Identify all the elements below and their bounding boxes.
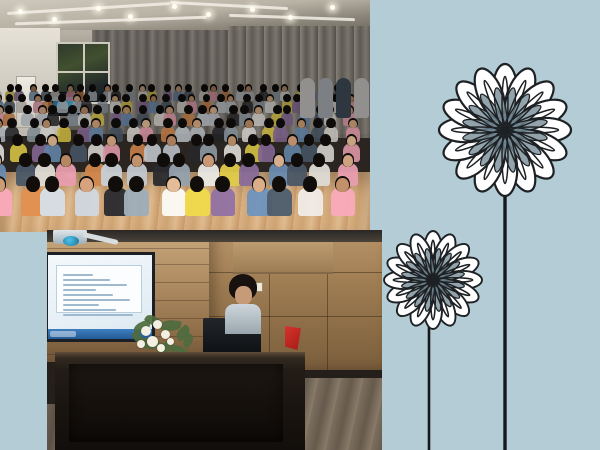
small-daisy-ray [403,278,435,310]
audience-member-head [284,107,290,114]
large-daisy-ray [502,128,528,180]
audience-member-head [211,86,216,92]
audience-member-head [46,178,59,192]
audience-member-head [261,86,266,92]
audience-member-head [140,96,146,102]
large-daisy-petal [439,93,497,136]
audience-member-head [130,178,143,192]
small-daisy-inner-petal [432,276,465,290]
audience-member-head [179,96,185,102]
bouquet-bloom [153,320,162,329]
wall-panel [233,238,333,274]
screen-text-line [63,304,99,306]
audience-member-head [166,107,172,114]
audience-member [67,112,79,126]
audience-member-head [249,136,258,146]
presenter [223,274,263,332]
audience-member-head [20,155,30,167]
screen-text-line [63,309,116,311]
large-daisy-inner-petal [492,128,510,173]
audience-member-head [192,136,201,146]
small-daisy-inner-petal [401,270,434,284]
large-daisy-petal [506,75,561,130]
large-daisy-petal [493,143,517,196]
audience-member-head [215,120,222,128]
stage-floor-right [296,378,382,450]
audience-member-head [94,107,100,114]
audience-member-head [163,96,169,102]
audience-member-head [284,96,290,102]
small-daisy-petal [392,239,433,280]
wall-panel-seam [327,272,328,370]
standing-attendee [318,78,333,118]
audience-member-head [292,155,302,167]
audience-member-head [109,178,122,192]
auditorium-audience-photo [0,0,370,232]
audience-member-head [27,178,40,192]
audience-member-head [31,120,38,128]
audience-member-head [158,155,168,167]
large-daisy-petal [468,64,511,122]
large-daisy-inner-petal [502,102,544,134]
presenter-body [225,304,261,334]
large-daisy-ray [502,129,508,183]
small-daisy-ray [431,280,435,320]
bouquet-bloom [167,338,174,345]
bouquet-bloom [157,344,165,352]
audience-member-head [8,120,15,128]
small-daisy-inner-petal [429,248,443,281]
audience-member-head [336,178,349,192]
large-daisy-petal [499,64,542,122]
audience-member-head [218,96,224,102]
audience-member-head [349,120,356,128]
audience-member-head [176,86,181,92]
small-daisy-ray [416,242,435,281]
large-daisy-inner-petal [502,126,544,158]
audience-member-head [60,120,67,128]
audience-member-head [186,86,191,92]
screen-text-line [63,299,130,301]
small-daisy-inner-petal [429,279,443,312]
audience-member [57,126,71,142]
audience-member-head [123,96,129,102]
large-daisy-ray [504,127,558,133]
audience-member [252,112,264,126]
large-daisy-inner-petal [467,126,509,158]
audience-member-head [203,155,213,167]
small-daisy-ray [431,250,463,282]
small-daisy-petal [424,290,442,329]
large-daisy-petal [450,131,505,186]
large-daisy-inner-petal [492,87,510,132]
audience-member-head [228,136,237,146]
large-daisy-inner-petal [503,125,548,143]
audience-member-head [24,107,30,114]
audience-member-head [347,136,356,146]
audience-member-head [227,120,234,128]
audience-member-head [167,178,180,192]
audience-member-head [244,96,250,102]
small-daisy-ray [432,263,471,282]
small-daisy-ray [433,278,473,282]
audience-member-head [90,86,95,92]
audience-member-head [202,86,207,92]
audience-crowd [0,0,370,232]
large-daisy-ray [452,127,506,133]
audience-member-head [19,96,25,102]
audience-member-head [13,136,22,146]
small-daisy-petal [406,286,438,329]
large-daisy-ray [465,90,507,132]
large-daisy-ray [502,90,544,132]
audience-member-head [273,86,278,92]
small-daisy-inner-petal [401,276,434,290]
audience-member-head [74,96,80,102]
large-daisy-petal [493,64,517,117]
large-daisy-ray [482,79,508,131]
audience-member-head [298,120,305,128]
large-daisy-inner-petal [501,127,533,169]
audience-member-head [90,155,100,167]
collage-canvas [0,0,600,450]
large-daisy-petal [450,75,505,130]
audience-member-head [106,155,116,167]
audience-member-head [78,86,83,92]
audience-member-head [199,107,205,114]
audience-member [0,143,4,162]
audience-member-head [134,136,143,146]
small-daisy-inner-petal [423,279,437,312]
small-daisy-ray [432,278,471,297]
audience-member-head [45,96,51,102]
small-daisy-ray [431,279,450,318]
audience-member-head [253,178,266,192]
large-daisy-inner-petal [500,128,518,173]
audience-member-head [223,86,228,92]
small-daisy-center [431,278,435,282]
small-daisy-inner-petal [412,278,436,309]
audience-member-head [265,120,272,128]
audience-member-head [140,107,146,114]
small-daisy-inner-petal [431,259,462,283]
small-daisy-inner-petal [404,277,435,301]
bouquet-bloom [137,340,145,348]
audience-member-head [327,120,334,128]
small-daisy-ray [416,279,435,318]
audience-member-head [142,120,149,128]
small-daisy-petal [434,239,475,280]
audience-member-head [245,120,252,128]
presenter-face [235,286,252,305]
small-daisy-graphic [384,231,482,450]
screen-text-line [63,284,127,286]
large-daisy-ray [502,77,508,131]
large-daisy-inner-petal [477,127,509,169]
large-daisy-petal [439,118,492,142]
small-daisy-ray [395,278,434,297]
small-daisy-petal [439,253,482,285]
standing-attendee [354,78,369,118]
audience-member-head [39,107,45,114]
small-daisy-petal [424,231,442,270]
audience-member-head [288,136,297,146]
small-daisy-petal [406,231,438,274]
screen-text-line [63,289,96,291]
large-daisy-petal [468,138,511,196]
podium-desk [55,352,305,450]
small-daisy-petal [384,275,427,307]
audience-member [273,126,287,142]
standing-attendee [300,78,315,118]
large-daisy-inner-petal [477,92,509,134]
speaker-podium-photo [47,230,382,450]
desk-top-edge [55,352,305,359]
audience-member-head [113,86,118,92]
audience-member-head [343,155,353,167]
audience-member-head [174,155,184,167]
small-daisy-petal [392,281,433,322]
small-daisy-inner-petal [431,277,462,301]
small-daisy-inner-petal [423,248,437,281]
audience-member [0,188,12,216]
audience-member-head [43,86,48,92]
small-daisy-petal [384,271,423,289]
audience-member-head [191,178,204,192]
audience-member-head [107,136,116,146]
large-daisy-ray [502,79,528,131]
audience-member-head [149,86,154,92]
screen-text-line [63,274,93,276]
large-daisy-inner-petal [467,102,509,134]
screen-text-line [63,279,110,281]
audience-member-head [48,136,57,146]
small-daisy-ray [395,263,434,282]
small-daisy-inner-petal [430,278,454,309]
audience-member-head [49,107,55,114]
large-daisy-petal [513,124,571,167]
audience-member-head [164,120,171,128]
small-daisy-petal [439,275,482,307]
projector-lens-icon [63,236,79,246]
audience-member-head [53,86,58,92]
screen-text-line [63,314,133,316]
projector [53,230,87,244]
large-daisy-ray [454,127,506,153]
audience-member-head [39,155,49,167]
small-daisy-petal [384,253,427,285]
small-daisy-ray [403,250,435,282]
large-daisy-ray [503,107,555,133]
standing-attendee [336,78,351,118]
large-daisy-ray [482,128,508,180]
audience-member-head [314,155,324,167]
audience-member-head [16,86,21,92]
audience-member [175,126,189,142]
audience-member-head [314,120,321,128]
small-daisy-ray [393,278,433,282]
audience-member-head [243,155,253,167]
large-daisy-ray [465,127,507,169]
audience-member-head [8,86,13,92]
small-daisy-petal [428,231,460,274]
large-daisy-ray [454,107,506,133]
audience-member-head [127,86,132,92]
desk-front-panel [69,364,283,442]
audience-member-head [321,136,330,146]
audience-member-head [36,136,45,146]
audience-member-head [230,107,236,114]
large-daisy-inner-petal [500,87,518,132]
audience-member-head [92,136,101,146]
audience-member-head [112,120,119,128]
large-daisy-center [502,127,508,133]
audience-member-head [273,178,286,192]
bouquet-bloom [147,336,158,347]
large-daisy-petal [499,138,542,196]
small-daisy-inner-petal [432,270,465,284]
audience-member-head [185,107,191,114]
audience-member-head [305,136,314,146]
audience-member-head [74,136,83,146]
audience-member-head [256,96,262,102]
audience-member-head [132,155,142,167]
large-daisy-graphic [439,64,571,450]
audience-member-head [274,107,280,114]
audience-member-head [69,107,75,114]
audience-member-head [216,178,229,192]
audience-member-head [148,136,157,146]
large-daisy-petal [506,131,561,186]
large-daisy-inner-petal [462,117,507,135]
small-daisy-petal [434,281,475,322]
audience-member-head [193,120,200,128]
audience-member-head [204,136,213,146]
small-daisy-petal [428,286,460,329]
large-daisy-inner-petal [503,117,548,135]
screen-document [56,265,142,313]
screen-text-line [63,294,113,296]
small-daisy-inner-petal [430,251,454,282]
audience-member-head [35,96,41,102]
small-daisy-inner-petal [412,251,436,282]
audience-member-head [61,155,71,167]
audience-member-head [225,155,235,167]
audience-member-head [123,107,129,114]
large-daisy-ray [502,127,544,169]
large-daisy-ray [503,127,555,153]
audience-member-head [210,107,216,114]
audience-member-head [246,86,251,92]
audience-member [57,100,68,112]
audience-member-head [274,155,284,167]
small-daisy-ray [431,242,450,281]
audience-member-head [80,178,93,192]
audience-member-head [304,178,317,192]
small-daisy-petal [443,271,482,289]
audience-member-head [255,107,261,114]
audience-member-head [262,136,271,146]
small-daisy-ray [431,240,435,280]
audience-member-head [167,136,176,146]
audience-member-head [92,120,99,128]
large-daisy-petal [439,124,497,167]
large-daisy-petal [518,118,571,142]
large-daisy-inner-petal [462,125,507,143]
audience-member-head [165,86,170,92]
audience-member-head [105,86,110,92]
audience-member-head [81,107,87,114]
small-daisy-ray [431,278,463,310]
small-daisy-inner-petal [404,259,435,283]
bouquet-bloom [141,326,151,336]
large-daisy-petal [513,93,571,136]
audience-member-head [241,107,247,114]
large-daisy-inner-petal [501,92,533,134]
audience-member-head [238,86,243,92]
